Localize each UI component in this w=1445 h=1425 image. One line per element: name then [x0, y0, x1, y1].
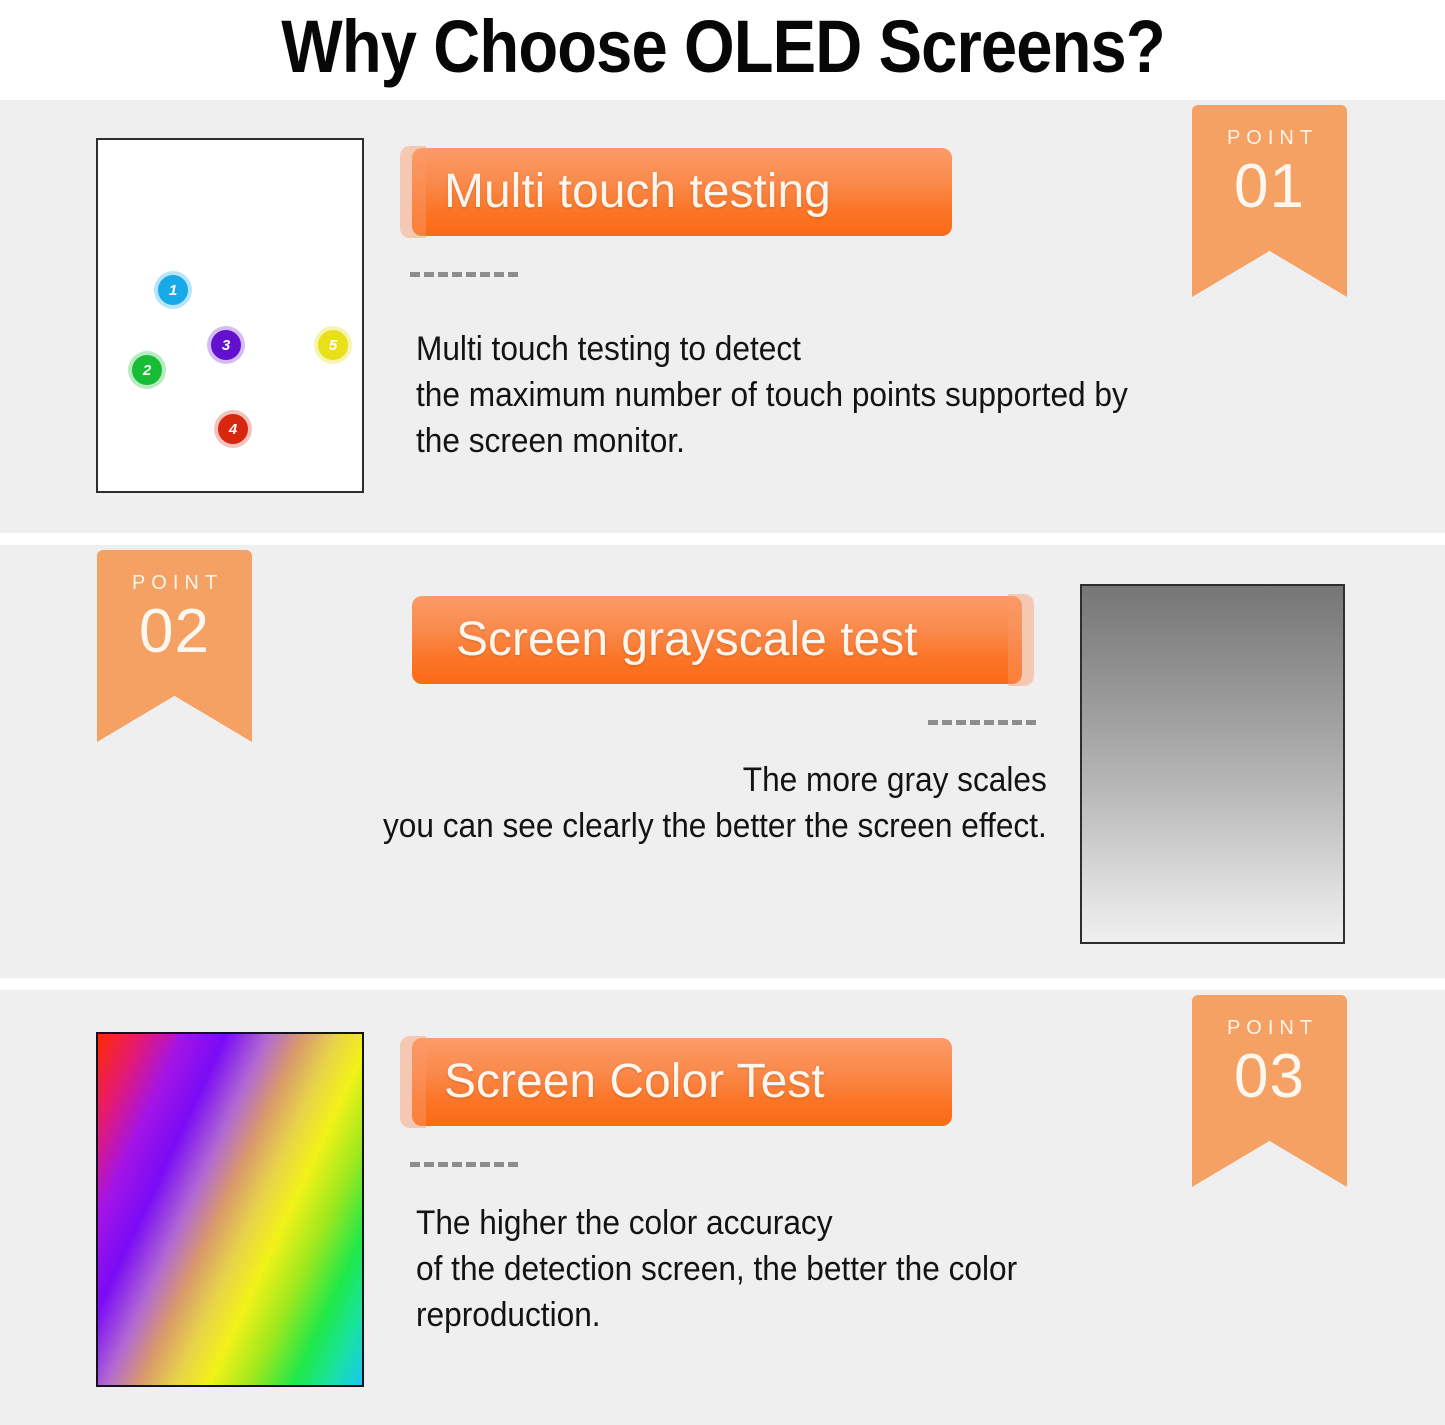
body-line: of the detection screen, the better the …	[416, 1246, 1017, 1292]
touch-point-label: 1	[169, 283, 177, 298]
section-body-multi-touch: Multi touch testing to detect the maximu…	[416, 326, 1128, 464]
ribbon-word: POINT	[1221, 1017, 1318, 1039]
touch-point-label: 2	[143, 363, 151, 378]
body-line: reproduction.	[416, 1292, 1017, 1338]
section-banner-grayscale[interactable]: Screen grayscale test	[412, 596, 1022, 684]
touch-point-2[interactable]: 2	[132, 355, 162, 385]
section-body-color: The higher the color accuracy of the det…	[416, 1200, 1017, 1338]
body-line: The more gray scales	[383, 757, 1047, 803]
title-band: Why Choose OLED Screens?	[0, 0, 1445, 100]
point-ribbon-01: POINT 01	[1192, 105, 1347, 297]
ribbon-number: 01	[1234, 155, 1305, 219]
point-ribbon-02: POINT 02	[97, 550, 252, 742]
ribbon-word: POINT	[1221, 127, 1318, 149]
touch-point-1[interactable]: 1	[158, 275, 188, 305]
body-line: the screen monitor.	[416, 418, 1128, 464]
touch-point-5[interactable]: 5	[318, 330, 348, 360]
grayscale-gradient-panel	[1080, 584, 1345, 944]
body-line: The higher the color accuracy	[416, 1200, 1017, 1246]
ribbon-number: 02	[139, 600, 210, 664]
section-gap-1	[0, 533, 1445, 545]
section-multi-touch-testing: 1 2 3 4 5 Multi touch testing Multi touc…	[0, 100, 1445, 533]
touch-point-label: 5	[329, 338, 337, 353]
page-title: Why Choose OLED Screens?	[281, 10, 1165, 90]
banner-label: Screen Color Test	[412, 1057, 825, 1107]
touch-point-4[interactable]: 4	[218, 414, 248, 444]
touch-test-panel: 1 2 3 4 5	[96, 138, 364, 493]
banner-label: Screen grayscale test	[412, 615, 918, 665]
section-screen-color-test: Screen Color Test The higher the color a…	[0, 990, 1445, 1425]
body-line: Multi touch testing to detect	[416, 326, 1128, 372]
dashed-divider	[928, 720, 1036, 725]
section-gap-2	[0, 978, 1445, 990]
section-banner-color[interactable]: Screen Color Test	[412, 1038, 952, 1126]
dashed-divider	[410, 1162, 518, 1167]
ribbon-word: POINT	[126, 572, 223, 594]
banner-label: Multi touch testing	[412, 167, 831, 217]
body-line: you can see clearly the better the scree…	[383, 803, 1047, 849]
section-body-grayscale: The more gray scales you can see clearly…	[383, 757, 1047, 849]
touch-point-3[interactable]: 3	[211, 330, 241, 360]
point-ribbon-03: POINT 03	[1192, 995, 1347, 1187]
section-screen-grayscale-test: POINT 02 Screen grayscale test The more …	[0, 545, 1445, 978]
dashed-divider	[410, 272, 518, 277]
color-gradient-panel	[96, 1032, 364, 1387]
touch-point-label: 3	[222, 338, 230, 353]
touch-point-label: 4	[229, 422, 237, 437]
ribbon-number: 03	[1234, 1045, 1305, 1109]
body-line: the maximum number of touch points suppo…	[416, 372, 1128, 418]
section-banner-multi-touch[interactable]: Multi touch testing	[412, 148, 952, 236]
